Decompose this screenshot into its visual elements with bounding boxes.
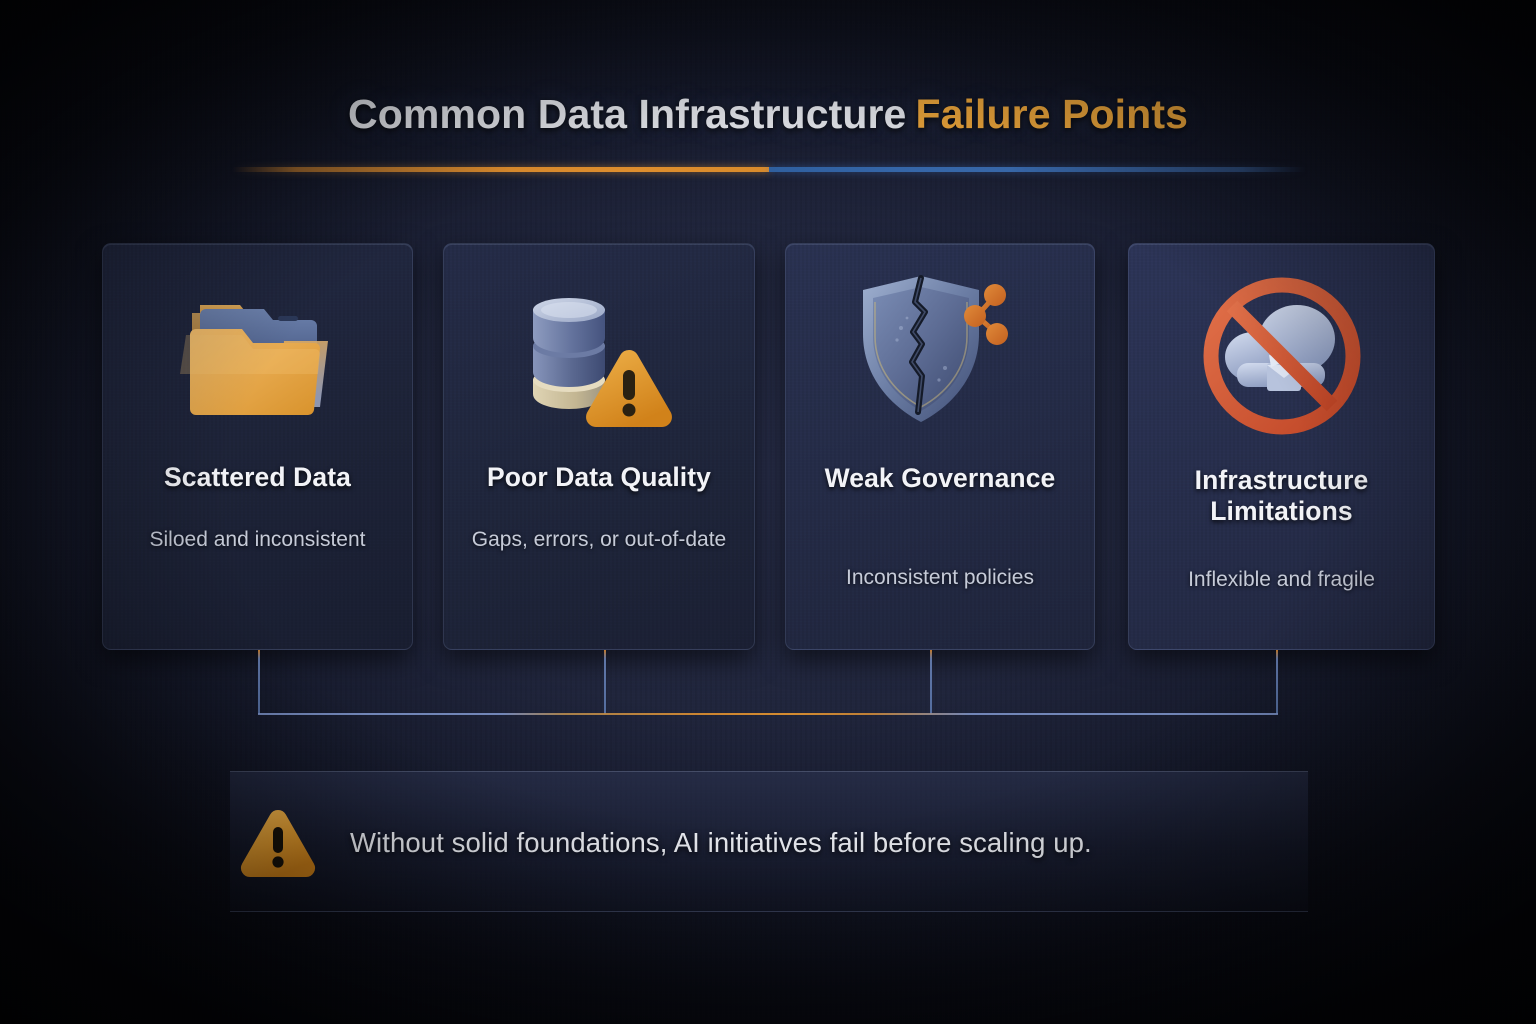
- title-divider: [232, 167, 1306, 172]
- connector-drop-2: [604, 650, 606, 714]
- connector-rail: [258, 713, 1278, 715]
- no-cloud-icon-wrap: [1129, 268, 1434, 444]
- connector-drop-4: [1276, 650, 1278, 714]
- page-title-accent: Failure Points: [915, 91, 1188, 137]
- card-scattered-data[interactable]: Scattered Data Siloed and inconsistent: [102, 243, 413, 650]
- title-divider-orange-half: [232, 167, 769, 172]
- card-title: Infrastructure Limitations: [1129, 465, 1434, 526]
- connector-bracket: [0, 650, 1536, 730]
- database-warning-icon-wrap: [444, 280, 754, 442]
- card-subtitle: Inflexible and fragile: [1129, 565, 1434, 595]
- folders-icon: [178, 287, 338, 437]
- footer-callout-text: Without solid foundations, AI initiative…: [350, 827, 1092, 859]
- no-cloud-icon: [1197, 271, 1367, 441]
- footer-callout-panel: Without solid foundations, AI initiative…: [230, 771, 1308, 912]
- card-poor-data-quality[interactable]: Poor Data Quality Gaps, errors, or out-o…: [443, 243, 755, 650]
- warning-triangle-icon: [240, 807, 316, 879]
- card-title: Weak Governance: [786, 463, 1094, 494]
- card-subtitle: Gaps, errors, or out-of-date: [444, 525, 754, 555]
- card-subtitle: Inconsistent policies: [786, 563, 1094, 593]
- card-title: Scattered Data: [103, 462, 412, 493]
- title-divider-blue-half: [769, 167, 1306, 172]
- failure-point-cards: Scattered Data Siloed and inconsistent: [0, 243, 1536, 650]
- connector-drop-1: [258, 650, 260, 714]
- card-weak-governance[interactable]: Weak Governance Inconsistent policies: [785, 243, 1095, 650]
- connector-drop-3: [930, 650, 932, 714]
- database-warning-icon: [519, 284, 679, 439]
- infographic-canvas: Common Data InfrastructureFailure Points: [0, 0, 1536, 1024]
- card-subtitle: Siloed and inconsistent: [103, 525, 412, 555]
- cracked-shield-network-icon: [845, 268, 1035, 443]
- card-title: Poor Data Quality: [444, 462, 754, 493]
- page-title-main: Common Data Infrastructure: [348, 91, 906, 137]
- card-infrastructure-limitations[interactable]: Infrastructure Limitations Inflexible an…: [1128, 243, 1435, 650]
- cracked-shield-network-icon-wrap: [786, 266, 1094, 444]
- page-title: Common Data InfrastructureFailure Points: [0, 92, 1536, 137]
- folders-icon-wrap: [103, 282, 412, 442]
